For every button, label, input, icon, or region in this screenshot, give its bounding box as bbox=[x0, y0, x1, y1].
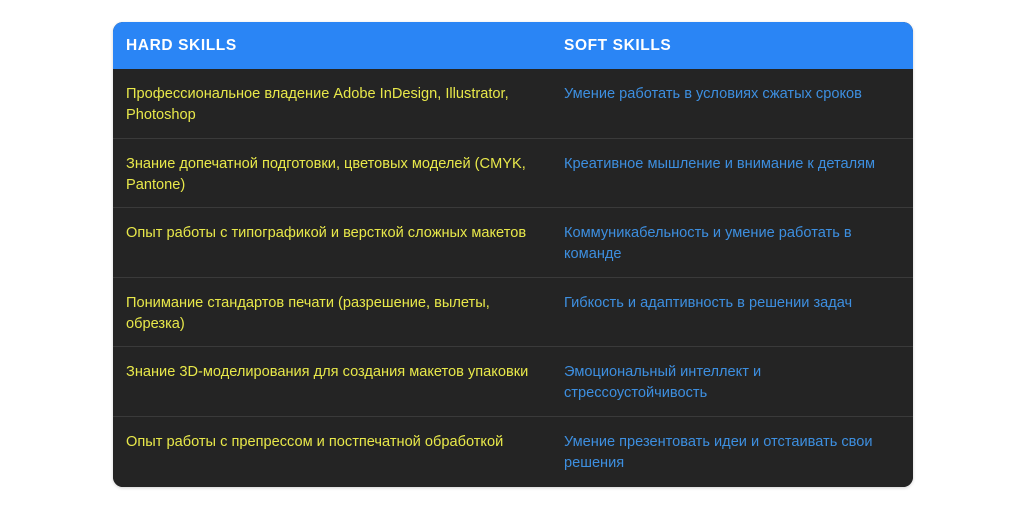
column-header-soft-skills: SOFT SKILLS bbox=[553, 37, 913, 55]
cell-hard-skill: Профессиональное владение Adobe InDesign… bbox=[113, 69, 553, 126]
cell-hard-skill: Понимание стандартов печати (разрешение,… bbox=[113, 278, 553, 335]
cell-hard-skill: Опыт работы с типографикой и версткой сл… bbox=[113, 208, 553, 244]
cell-soft-skill: Гибкость и адаптивность в решении задач bbox=[553, 278, 913, 314]
cell-soft-skill: Коммуникабельность и умение работать в к… bbox=[553, 208, 913, 265]
table-row: Знание 3D-моделирования для создания мак… bbox=[113, 347, 913, 417]
column-header-hard-skills: HARD SKILLS bbox=[113, 37, 553, 55]
table-row: Знание допечатной подготовки, цветовых м… bbox=[113, 139, 913, 209]
table-row: Понимание стандартов печати (разрешение,… bbox=[113, 278, 913, 348]
cell-hard-skill: Опыт работы с препрессом и постпечатной … bbox=[113, 417, 553, 453]
cell-hard-skill: Знание 3D-моделирования для создания мак… bbox=[113, 347, 553, 383]
skills-comparison-card: HARD SKILLS SOFT SKILLS Профессиональное… bbox=[113, 22, 913, 487]
cell-soft-skill: Креативное мышление и внимание к деталям bbox=[553, 139, 913, 175]
table-header-row: HARD SKILLS SOFT SKILLS bbox=[113, 22, 913, 69]
table-row: Профессиональное владение Adobe InDesign… bbox=[113, 69, 913, 139]
cell-hard-skill: Знание допечатной подготовки, цветовых м… bbox=[113, 139, 553, 196]
table-row: Опыт работы с типографикой и версткой сл… bbox=[113, 208, 913, 278]
cell-soft-skill: Умение презентовать идеи и отстаивать св… bbox=[553, 417, 913, 474]
table-row: Опыт работы с препрессом и постпечатной … bbox=[113, 417, 913, 487]
cell-soft-skill: Эмоциональный интеллект и стрессоустойчи… bbox=[553, 347, 913, 404]
cell-soft-skill: Умение работать в условиях сжатых сроков bbox=[553, 69, 913, 105]
page-root: HARD SKILLS SOFT SKILLS Профессиональное… bbox=[0, 0, 1024, 507]
table-body: Профессиональное владение Adobe InDesign… bbox=[113, 69, 913, 487]
